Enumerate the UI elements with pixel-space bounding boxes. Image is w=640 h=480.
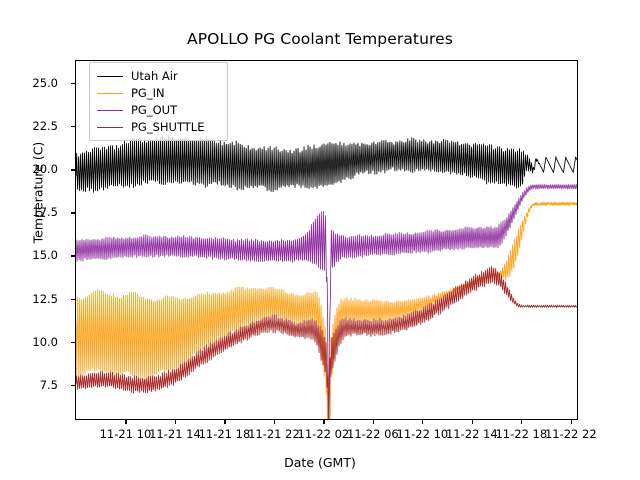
y-axis-tick-label: 22.5 xyxy=(0,119,58,133)
chart-figure: APOLLO PG Coolant Temperatures Temperatu… xyxy=(0,0,640,480)
legend-entry-label: PG_IN xyxy=(131,87,165,100)
x-axis-tick-label: 11-22 02 xyxy=(298,427,350,441)
x-axis-tick-mark xyxy=(175,420,176,424)
chart-title: APOLLO PG Coolant Temperatures xyxy=(0,30,640,48)
legend-entry-label: Utah Air xyxy=(131,70,178,83)
x-axis-tick-label: 11-21 14 xyxy=(149,427,201,441)
y-axis-tick-label: 12.5 xyxy=(0,292,58,306)
x-axis-tick-label: 11-22 22 xyxy=(545,427,597,441)
x-axis-tick-mark xyxy=(224,420,225,424)
y-axis-tick-label: 10.0 xyxy=(0,335,58,349)
y-axis-tick-label: 15.0 xyxy=(0,248,58,262)
x-axis-tick-mark xyxy=(472,420,473,424)
x-axis-tick-label: 11-21 18 xyxy=(199,427,251,441)
legend-line-icon xyxy=(97,122,123,133)
legend-line-icon xyxy=(97,105,123,116)
x-axis-tick-mark xyxy=(571,420,572,424)
y-axis-tick-label: 17.5 xyxy=(0,205,58,219)
x-axis-tick-mark xyxy=(274,420,275,424)
x-axis-label: Date (GMT) xyxy=(0,455,640,470)
x-axis-tick-mark xyxy=(125,420,126,424)
legend-entry: PG_IN xyxy=(97,85,219,102)
series-line-utah-air xyxy=(76,136,577,192)
legend-line-icon xyxy=(97,88,123,99)
x-axis-tick-mark xyxy=(422,420,423,424)
x-axis-tick-label: 11-22 14 xyxy=(446,427,498,441)
y-axis-tick-label: 20.0 xyxy=(0,162,58,176)
legend-entry: Utah Air xyxy=(97,68,219,85)
x-axis-tick-label: 11-22 06 xyxy=(347,427,399,441)
x-axis-tick-mark xyxy=(373,420,374,424)
y-axis-tick-label: 7.5 xyxy=(0,378,58,392)
legend-entry: PG_SHUTTLE xyxy=(97,119,219,136)
legend-entry: PG_OUT xyxy=(97,102,219,119)
legend-entry-label: PG_SHUTTLE xyxy=(131,121,204,134)
x-axis-tick-label: 11-21 10 xyxy=(100,427,152,441)
x-axis-tick-label: 11-22 18 xyxy=(495,427,547,441)
x-axis-tick-mark xyxy=(521,420,522,424)
x-axis-tick-mark xyxy=(323,420,324,424)
y-axis-tick-label: 25.0 xyxy=(0,76,58,90)
x-axis-tick-label: 11-22 10 xyxy=(397,427,449,441)
legend-line-icon xyxy=(97,71,123,82)
chart-legend: Utah AirPG_INPG_OUTPG_SHUTTLE xyxy=(89,62,228,141)
legend-entry-label: PG_OUT xyxy=(131,104,177,117)
x-axis-tick-label: 11-21 22 xyxy=(248,427,300,441)
